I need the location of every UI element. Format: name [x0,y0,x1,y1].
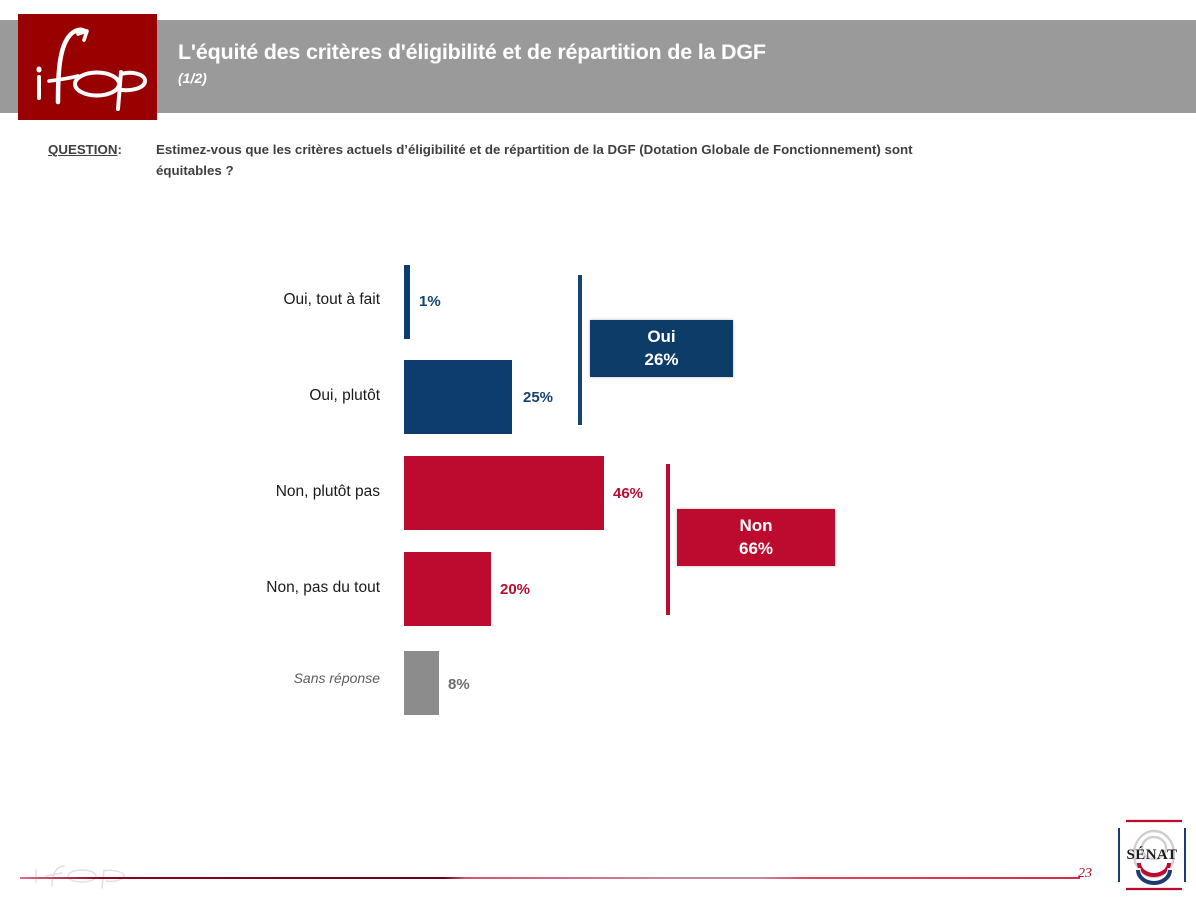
chart-bar-3 [404,552,491,626]
chart-value-label-2: 46% [613,486,643,501]
oui-group-brace [578,275,582,425]
page-title: L'équité des critères d'éligibilité et d… [178,40,1078,65]
page-subtitle: (1/2) [178,70,1078,86]
chart-value-label-4: 8% [448,677,470,692]
non-callout-value: 66% [739,538,773,560]
svg-text:SÉNAT: SÉNAT [1127,846,1178,863]
title-block: L'équité des critères d'éligibilité et d… [178,40,1078,86]
chart-value-label-0: 1% [419,294,441,309]
senat-logo: SÉNAT [1116,818,1188,892]
senat-logo-mark: SÉNAT [1116,818,1188,892]
chart-bar-2 [404,456,604,530]
chart-category-label-1: Oui, plutôt [180,388,380,404]
question-label: QUESTION: [48,140,122,161]
oui-callout: Oui 26% [590,320,733,377]
bar-chart: Oui, tout à fait Oui, plutôt Non, plutôt… [0,0,1196,899]
page-number: 23 [1078,866,1092,882]
question-label-text: QUESTION [48,142,117,157]
chart-bar-4 [404,651,439,715]
non-callout: Non 66% [677,509,835,566]
ifop-logo-mark [18,14,157,120]
question-text-last-line: équitables ? [156,161,1148,182]
chart-plot-area: Oui, tout à fait Oui, plutôt Non, plutôt… [0,0,1196,899]
chart-category-label-2: Non, plutôt pas [180,484,380,500]
question-colon: : [117,142,121,157]
question-text: Estimez-vous que les critères actuels d’… [48,140,1148,181]
chart-bar-0 [404,265,410,339]
footer-divider [20,877,1080,879]
chart-category-label-3: Non, pas du tout [180,580,380,596]
non-group-brace [666,464,670,615]
chart-category-label-4: Sans réponse [180,671,380,685]
chart-bar-1 [404,360,512,434]
ifop-logo [18,14,157,120]
non-callout-title: Non [739,515,772,537]
chart-value-label-3: 20% [500,582,530,597]
chart-category-label-0: Oui, tout à fait [180,292,380,308]
oui-callout-value: 26% [644,349,678,371]
chart-value-label-1: 25% [523,390,553,405]
question-block: QUESTION: Estimez-vous que les critères … [48,140,1148,181]
oui-callout-title: Oui [647,326,675,348]
question-text-main: Estimez-vous que les critères actuels d’… [156,142,913,157]
